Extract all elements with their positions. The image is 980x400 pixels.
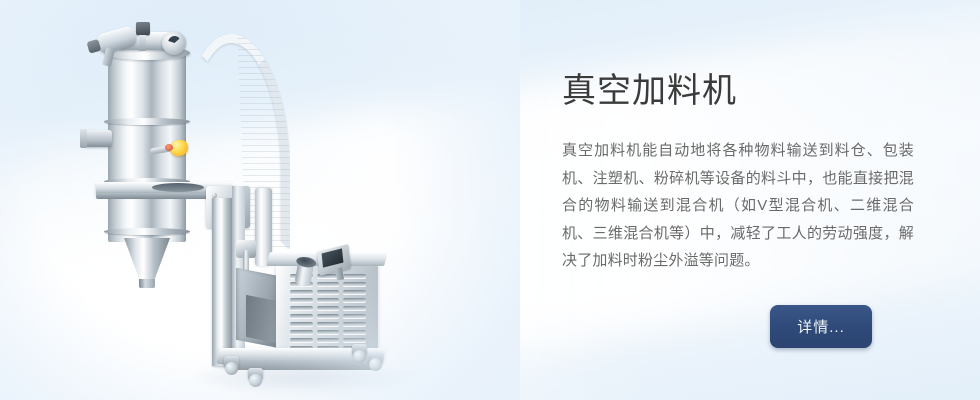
grille-slot	[343, 274, 366, 279]
grille-slot	[290, 298, 313, 303]
support-column-secondary	[232, 186, 245, 366]
product-description: 真空加料机能自动地将各种物料输送到料仓、包装机、注塑机、粉碎机等设备的料斗中，也…	[562, 137, 914, 275]
support-platform-lip	[96, 193, 232, 199]
grille-slot	[343, 338, 366, 343]
grille-slot	[290, 346, 313, 351]
product-photo	[0, 0, 520, 400]
grille-slot	[290, 338, 313, 343]
grille-slot	[290, 274, 313, 279]
floor-shadow	[196, 362, 416, 394]
cabinet-inlet-elbow	[294, 263, 314, 287]
base-frame	[216, 348, 386, 364]
hopper-band-middle	[104, 178, 190, 185]
grille-slot	[317, 346, 340, 351]
base-cabinet	[276, 262, 378, 350]
caster-wheel	[368, 352, 383, 368]
hopper-top-rim	[104, 46, 190, 60]
stainless-steel-hopper	[108, 52, 186, 242]
grille-slot	[343, 322, 366, 327]
caster-wheel	[224, 356, 239, 372]
photo-edge-fade	[0, 0, 520, 400]
support-platform	[96, 182, 232, 195]
frame-cross-bar	[250, 318, 290, 325]
details-button[interactable]: 详情...	[770, 305, 872, 348]
caster-wheel	[248, 368, 263, 384]
base-frame-underside	[225, 360, 377, 370]
yellow-lever-knob	[170, 140, 188, 156]
grille-slot	[343, 290, 366, 295]
control-panel-stand	[335, 267, 344, 280]
grille-slot	[343, 346, 366, 351]
grille-slot	[343, 330, 366, 335]
adjustment-rod	[243, 250, 249, 322]
grille-slot	[317, 322, 340, 327]
background-corner-glow	[0, 120, 500, 400]
grille-slot	[343, 306, 366, 311]
grille-slot	[290, 290, 313, 295]
vacuum-pump-motor	[94, 25, 138, 55]
grille-slot	[317, 282, 340, 287]
cabinet-open-side	[236, 268, 280, 349]
discharge-lever	[150, 145, 173, 154]
grille-slot	[343, 298, 366, 303]
banner-text-column: 真空加料机 真空加料机能自动地将各种物料输送到料仓、包装机、注塑机、粉碎机等设备…	[562, 0, 962, 400]
flexible-hose-ribs	[180, 34, 290, 249]
grille-slot	[290, 322, 313, 327]
grille-slot	[343, 314, 366, 319]
hopper-band-upper	[104, 118, 190, 125]
adjustment-rod-head	[236, 240, 256, 258]
support-column	[212, 198, 232, 366]
hopper-discharge-outlet	[139, 279, 155, 288]
pump-head-stub	[102, 47, 115, 67]
hopper-discharge-cone	[124, 238, 170, 280]
grille-slot	[317, 298, 340, 303]
column-mounting-bracket	[206, 186, 250, 228]
grille-slot	[290, 306, 313, 311]
grille-slot	[317, 338, 340, 343]
grille-slot	[317, 314, 340, 319]
base-cabinet-top	[266, 252, 387, 266]
grille-slot	[317, 306, 340, 311]
cabinet-interior	[246, 295, 278, 343]
control-panel	[317, 244, 351, 276]
product-hero-banner: 真空加料机 真空加料机能自动地将各种物料输送到料仓、包装机、注塑机、粉碎机等设备…	[0, 0, 980, 400]
pump-head-plate	[118, 32, 180, 50]
caster-wheel	[352, 344, 367, 360]
control-panel-screen	[322, 248, 344, 267]
grille-slot	[290, 282, 313, 287]
hose-inlet-port	[162, 31, 186, 55]
grille-slot	[290, 314, 313, 319]
grille-slot	[317, 330, 340, 335]
grille-slot	[317, 290, 340, 295]
hopper-band-lower	[104, 228, 190, 235]
cabinet-ventilation-grille	[290, 274, 366, 340]
grille-slot	[290, 330, 313, 335]
platform-opening	[152, 183, 204, 192]
page-title: 真空加料机	[562, 70, 737, 113]
hopper-side-nozzle	[84, 130, 112, 147]
flexible-hose	[180, 34, 290, 249]
grille-slot	[343, 282, 366, 287]
flexible-hose-descending-section	[255, 188, 272, 266]
grille-slot	[317, 274, 340, 279]
pressure-gauge	[136, 22, 150, 35]
